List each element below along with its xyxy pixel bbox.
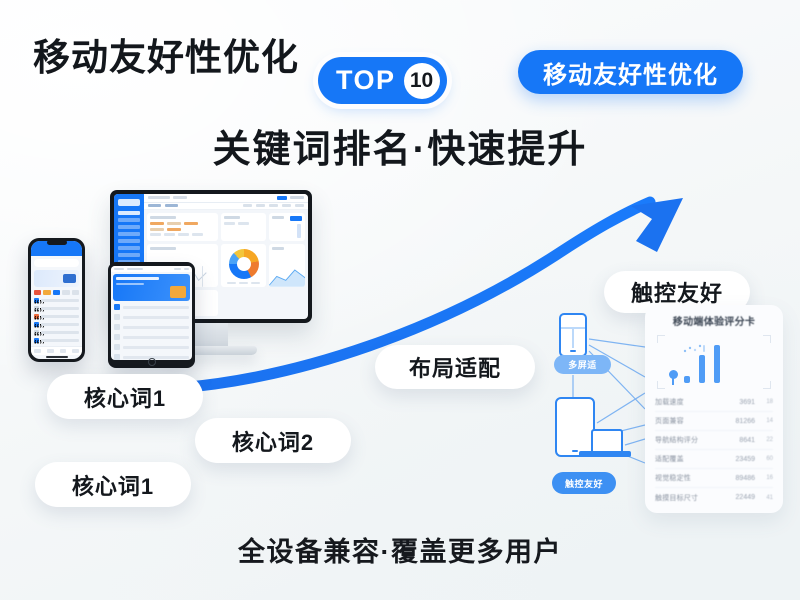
keyword-pill-3: 核心词1 [35, 462, 191, 507]
dashboard-card-score [269, 213, 305, 241]
row-label: 页面兼容 [655, 416, 729, 426]
row-value: 8641 [729, 437, 755, 444]
diagram-pill-touch: 触控友好 [552, 472, 616, 494]
dashboard-toolbar [144, 203, 308, 210]
phone-quick-icons [31, 290, 82, 298]
table-row: 加载速度 3691 18 [655, 393, 773, 412]
mini-laptop-icon [591, 429, 623, 453]
device-group [28, 190, 328, 390]
page-subtitle: 关键词排名·快速提升 [0, 118, 800, 173]
scorecard-chart [657, 335, 771, 389]
row-label: 加载速度 [655, 397, 729, 407]
dashboard-card-summary [221, 213, 267, 241]
tablet-screen [111, 266, 192, 360]
table-row: 触摸目标尺寸 22449 41 [655, 488, 773, 507]
row-delta: 60 [755, 456, 773, 462]
scorecard-rows: 加载速度 3691 18 页面兼容 81266 14 导航结构评分 8641 2… [655, 393, 773, 507]
phone-banner [34, 270, 79, 287]
bottom-caption: 全设备兼容·覆盖更多用户 [0, 530, 800, 569]
row-delta: 16 [755, 475, 773, 481]
row-value: 23459 [729, 456, 755, 463]
keyword-pill-2: 核心词2 [195, 418, 351, 463]
table-row: 适配覆盖 23459 60 [655, 450, 773, 469]
row-delta: 14 [755, 418, 773, 424]
top-rank-badge: TOP 10 [318, 57, 447, 104]
dashboard-card-metrics [147, 213, 218, 241]
mini-phone-top-icon [559, 313, 587, 357]
donut-chart [229, 249, 259, 279]
tablet-device [108, 262, 195, 368]
mini-laptop-base-icon [579, 451, 631, 457]
phone-notch [47, 240, 67, 245]
row-label: 适配覆盖 [655, 454, 729, 464]
row-label: 视觉稳定性 [655, 473, 729, 483]
table-row: 页面兼容 81266 14 [655, 412, 773, 431]
phone-search-bar [34, 259, 79, 267]
mini-phone-large-icon [555, 397, 595, 457]
phone-home-indicator [46, 356, 68, 358]
phone-result-list [31, 298, 82, 351]
poster-canvas: 移动友好性优化 TOP 10 移动友好性优化 关键词排名·快速提升 [0, 0, 800, 600]
header-tag-pill: 移动友好性优化 [518, 50, 743, 94]
page-title: 移动友好性优化 [33, 27, 299, 81]
row-delta: 18 [755, 399, 773, 405]
phone-tabbar [31, 346, 82, 355]
dashboard-topbar [144, 194, 308, 203]
dashboard-card-area1 [269, 244, 305, 287]
mobile-scorecard-panel: 移动端体验评分卡 加载速度 [645, 305, 783, 513]
keyword-pill-1: 核心词1 [47, 374, 203, 419]
table-row: 导航结构评分 8641 22 [655, 431, 773, 450]
tablet-home-button [148, 358, 156, 366]
monitor-stand [194, 323, 228, 348]
table-row: 视觉稳定性 89486 16 [655, 469, 773, 488]
row-value: 3691 [729, 399, 755, 406]
row-delta: 22 [755, 437, 773, 443]
row-value: 81266 [729, 418, 755, 425]
phone-screen [31, 241, 82, 359]
diagram-pill-multiscreen: 多屏适 [554, 355, 611, 374]
row-label: 触摸目标尺寸 [655, 493, 729, 503]
scorecard-marker [669, 370, 678, 379]
scorecard-bars [669, 339, 761, 383]
dashboard-card-donut [221, 244, 267, 287]
top-rank-number: 10 [404, 63, 440, 99]
row-value: 22449 [729, 494, 755, 501]
phone-device [28, 238, 85, 362]
row-value: 89486 [729, 475, 755, 482]
tablet-hero-banner [113, 274, 190, 301]
scorecard-title: 移动端体验评分卡 [655, 313, 773, 328]
row-label: 导航结构评分 [655, 435, 729, 445]
mobile-experience-diagram: 多屏适 触控友好 移动端体验评分卡 [545, 305, 795, 520]
feature-pill-layout: 布局适配 [375, 345, 535, 389]
top-rank-word: TOP [336, 67, 396, 94]
row-delta: 41 [755, 495, 773, 501]
